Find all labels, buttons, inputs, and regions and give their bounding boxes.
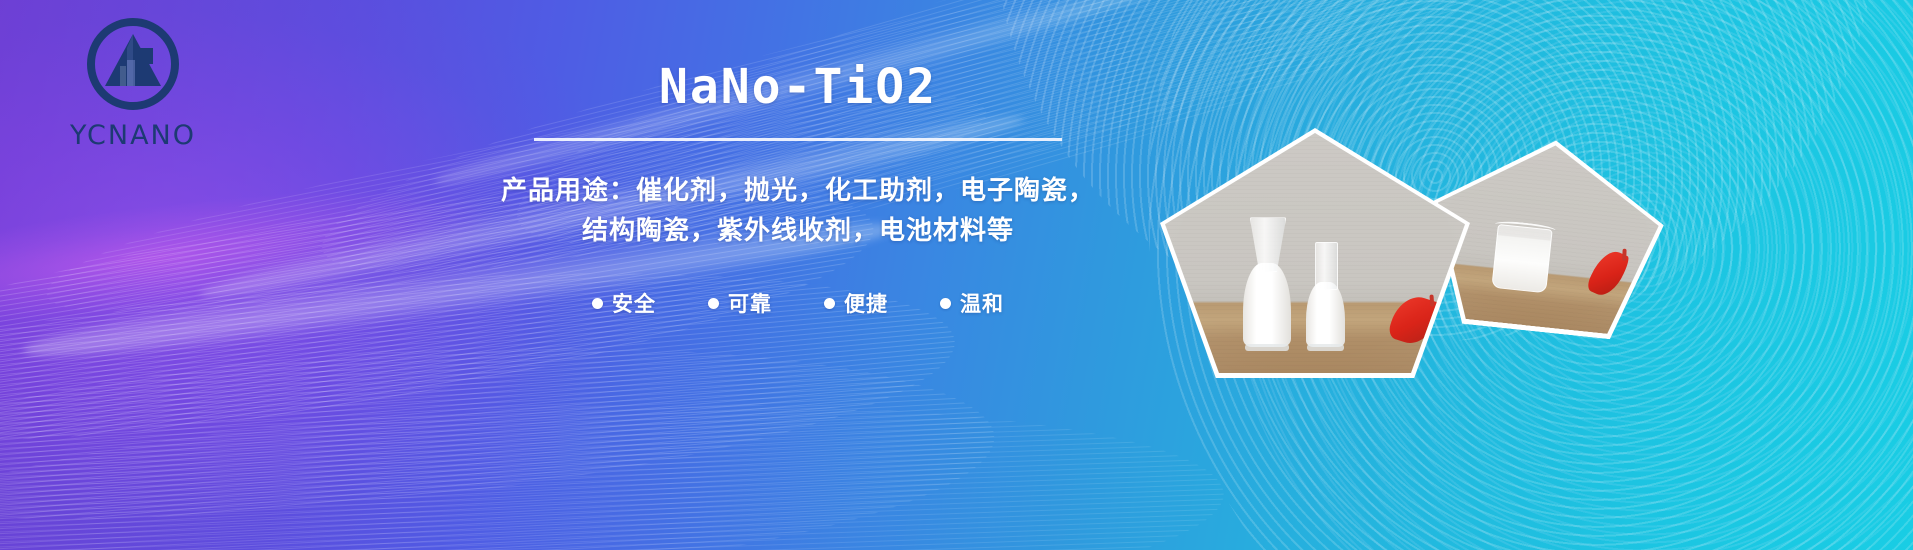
feature-item-mild: 温和 — [940, 288, 1004, 318]
vase-base — [1307, 344, 1344, 351]
vase-tall-object — [1243, 227, 1291, 347]
bullet-dot-icon — [824, 298, 835, 309]
feature-label: 温和 — [960, 288, 1004, 318]
feature-list: 安全 可靠 便捷 温和 — [478, 288, 1118, 318]
chili-stem — [1622, 249, 1626, 261]
usage-line-1: 产品用途：催化剂，抛光，化工助剂，电子陶瓷， — [478, 171, 1118, 211]
ycnano-circle-triangle-logo-icon — [83, 14, 183, 114]
vase-base — [1245, 344, 1289, 351]
usage-line-2: 结构陶瓷，紫外线收剂，电池材料等 — [478, 211, 1118, 251]
feature-item-reliable: 可靠 — [708, 288, 772, 318]
bullet-dot-icon — [708, 298, 719, 309]
feature-label: 安全 — [612, 288, 656, 318]
page-title: NaNo-TiO2 — [478, 62, 1118, 112]
feature-label: 可靠 — [728, 288, 772, 318]
wave-lines-lower-2 — [0, 321, 1000, 550]
bullet-dot-icon — [940, 298, 951, 309]
vase-neck — [1315, 242, 1339, 289]
hero-copy: NaNo-TiO2 产品用途：催化剂，抛光，化工助剂，电子陶瓷， 结构陶瓷，紫外… — [478, 62, 1118, 318]
vase-body — [1243, 263, 1291, 347]
vase-body — [1306, 282, 1345, 347]
pentagon-photo-vases — [1160, 128, 1470, 378]
product-hero-banner: YCNANO NaNo-TiO2 产品用途：催化剂，抛光，化工助剂，电子陶瓷， … — [0, 0, 1913, 550]
photo-frame-inner — [1165, 133, 1465, 373]
beaker-object — [1492, 224, 1554, 293]
vase-neck — [1250, 217, 1287, 272]
bullet-dot-icon — [592, 298, 603, 309]
wave-lines-bottom — [0, 384, 1228, 550]
title-divider — [534, 138, 1062, 141]
brand-wordmark: YCNANO — [38, 120, 228, 151]
feature-item-convenient: 便捷 — [824, 288, 888, 318]
vase-short-object — [1306, 248, 1345, 346]
feature-item-safe: 安全 — [592, 288, 656, 318]
product-usage-text: 产品用途：催化剂，抛光，化工助剂，电子陶瓷， 结构陶瓷，紫外线收剂，电池材料等 — [478, 171, 1118, 250]
brand-logo[interactable]: YCNANO — [38, 14, 228, 151]
feature-label: 便捷 — [844, 288, 888, 318]
